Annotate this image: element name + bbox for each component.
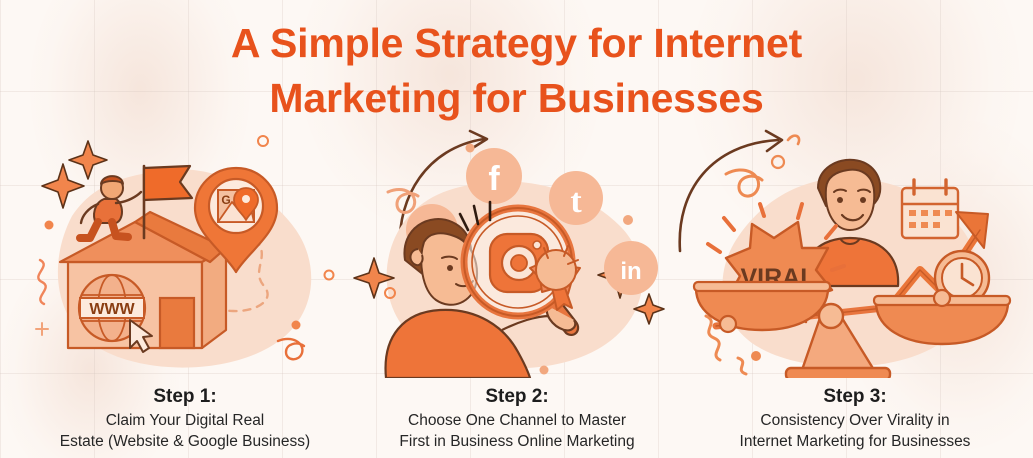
step-2-illustration: f t in	[352, 130, 682, 378]
squiggle-icon	[788, 136, 799, 144]
facebook-glyph: f	[488, 160, 500, 198]
step-1-desc-line-2: Estate (Website & Google Business)	[20, 431, 350, 452]
step-3-desc-line-1: Consistency Over Virality in	[690, 410, 1020, 431]
step-3-illustration: VIRAL	[690, 130, 1020, 378]
linkedin-icon: in	[604, 241, 658, 295]
step-3-title: Step 3:	[690, 384, 1020, 410]
dot-icon	[258, 136, 268, 146]
step-card-3: VIRAL	[690, 130, 1020, 452]
step-2-desc-line-1: Choose One Channel to Master	[352, 410, 682, 431]
dot-icon	[772, 156, 784, 168]
step-1-title: Step 1:	[20, 384, 350, 410]
step-1-desc-line-1: Claim Your Digital Real	[20, 410, 350, 431]
dot-icon	[466, 144, 475, 153]
globe-label: WWW	[89, 301, 135, 318]
dot-icon	[292, 321, 301, 330]
squiggle-icon	[388, 190, 418, 213]
step-3-desc-line-2: Internet Marketing for Businesses	[690, 431, 1020, 452]
squiggle-icon	[278, 339, 304, 359]
sparkle-icon	[36, 323, 48, 335]
step-2-caption: Step 2: Choose One Channel to Master Fir…	[352, 384, 682, 452]
step-3-caption: Step 3: Consistency Over Virality in Int…	[690, 384, 1020, 452]
tumblr-icon: t	[549, 171, 603, 225]
step-card-1: WWW	[20, 130, 350, 452]
step-2-title: Step 2:	[352, 384, 682, 410]
linkedin-glyph: in	[620, 258, 641, 285]
dot-icon	[325, 271, 334, 280]
squiggle-icon	[38, 260, 45, 304]
step-1-caption: Step 1: Claim Your Digital Real Estate (…	[20, 384, 350, 452]
step-1-illustration: WWW	[20, 130, 350, 378]
dot-icon	[751, 351, 761, 361]
step-card-2: f t in	[352, 130, 682, 452]
step-2-desc-line-2: First in Business Online Marketing	[352, 431, 682, 452]
dot-icon	[623, 215, 633, 225]
facebook-icon: f	[466, 148, 522, 204]
page-title-line-2: Marketing for Businesses	[0, 71, 1033, 126]
page-title-line-1: A Simple Strategy for Internet	[0, 16, 1033, 71]
map-pin-letter: G	[221, 193, 230, 207]
dot-icon	[540, 366, 549, 375]
page-title: A Simple Strategy for Internet Marketing…	[0, 16, 1033, 125]
calendar-icon	[902, 180, 958, 238]
tumblr-glyph: t	[570, 183, 582, 220]
dot-icon	[45, 221, 54, 230]
